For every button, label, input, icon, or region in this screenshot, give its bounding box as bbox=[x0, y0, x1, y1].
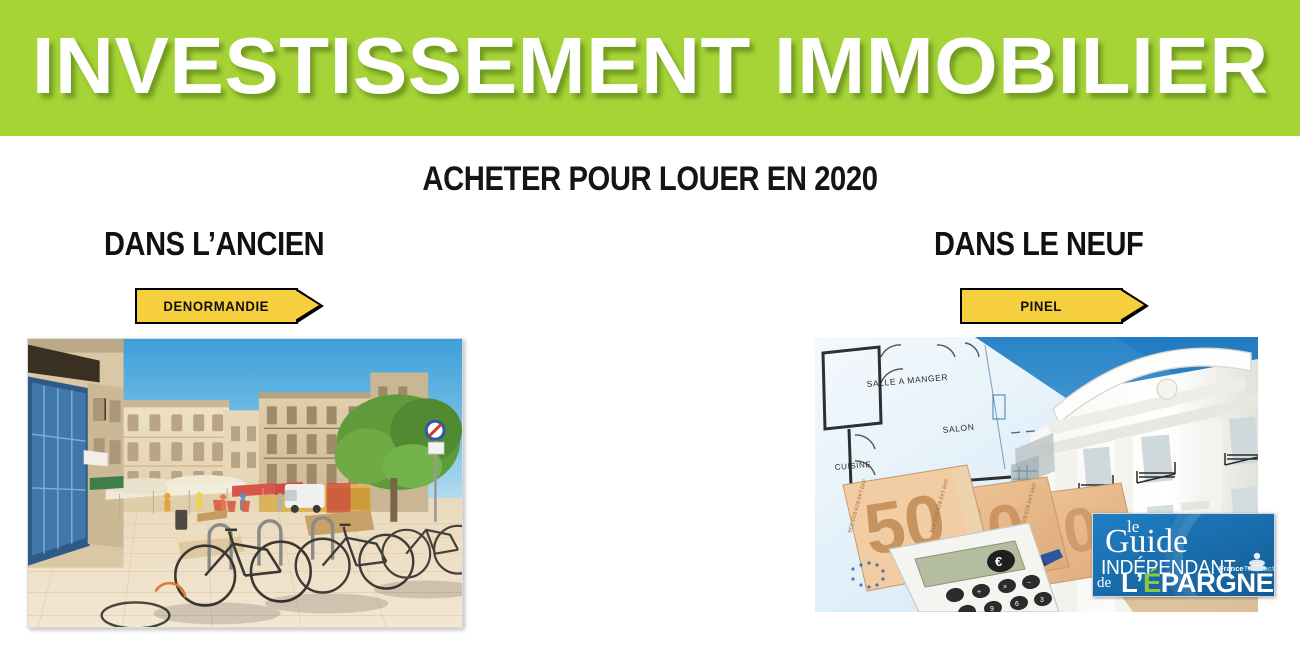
sign-pinel[interactable]: PINEL bbox=[960, 288, 1123, 324]
epargne-rest: PARGNE bbox=[1161, 568, 1274, 597]
piggy-coin-icon bbox=[1246, 552, 1268, 572]
page-title: INVESTISSEMENT IMMOBILIER bbox=[32, 26, 1269, 110]
sign-pinel-label: PINEL bbox=[1021, 298, 1063, 314]
guide-epargne-logo: le Guide INDÉPENDANT FranceTransactions.… bbox=[1092, 513, 1275, 597]
logo-guide-text: Guide bbox=[1105, 525, 1188, 559]
svg-text:3: 3 bbox=[1040, 597, 1044, 604]
svg-text:9: 9 bbox=[990, 606, 994, 612]
svg-text:+: + bbox=[977, 589, 981, 596]
infographic-page: INVESTISSEMENT IMMOBILIER ACHETER POUR L… bbox=[0, 0, 1300, 650]
epargne-accent: É bbox=[1143, 568, 1161, 597]
column-heading-ancien: DANS L’ANCIEN bbox=[104, 225, 324, 263]
title-banner: INVESTISSEMENT IMMOBILIER bbox=[0, 0, 1300, 136]
svg-text:×: × bbox=[1003, 584, 1007, 591]
photo-ancien bbox=[27, 338, 463, 628]
epargne-prefix: L’ bbox=[1121, 568, 1143, 597]
svg-text:€: € bbox=[995, 554, 1002, 569]
logo-epargne-text: L’ÉPARGNE bbox=[1121, 570, 1274, 597]
logo-de-text: de bbox=[1097, 575, 1111, 592]
svg-text:−: − bbox=[1027, 580, 1031, 587]
column-heading-neuf: DANS LE NEUF bbox=[934, 225, 1143, 263]
photo-ancien-illustration bbox=[28, 339, 462, 627]
svg-text:6: 6 bbox=[1015, 601, 1019, 608]
sign-denormandie-label: DENORMANDIE bbox=[164, 298, 270, 314]
subtitle: ACHETER POUR LOUER EN 2020 bbox=[91, 160, 1209, 199]
sign-denormandie[interactable]: DENORMANDIE bbox=[135, 288, 298, 324]
